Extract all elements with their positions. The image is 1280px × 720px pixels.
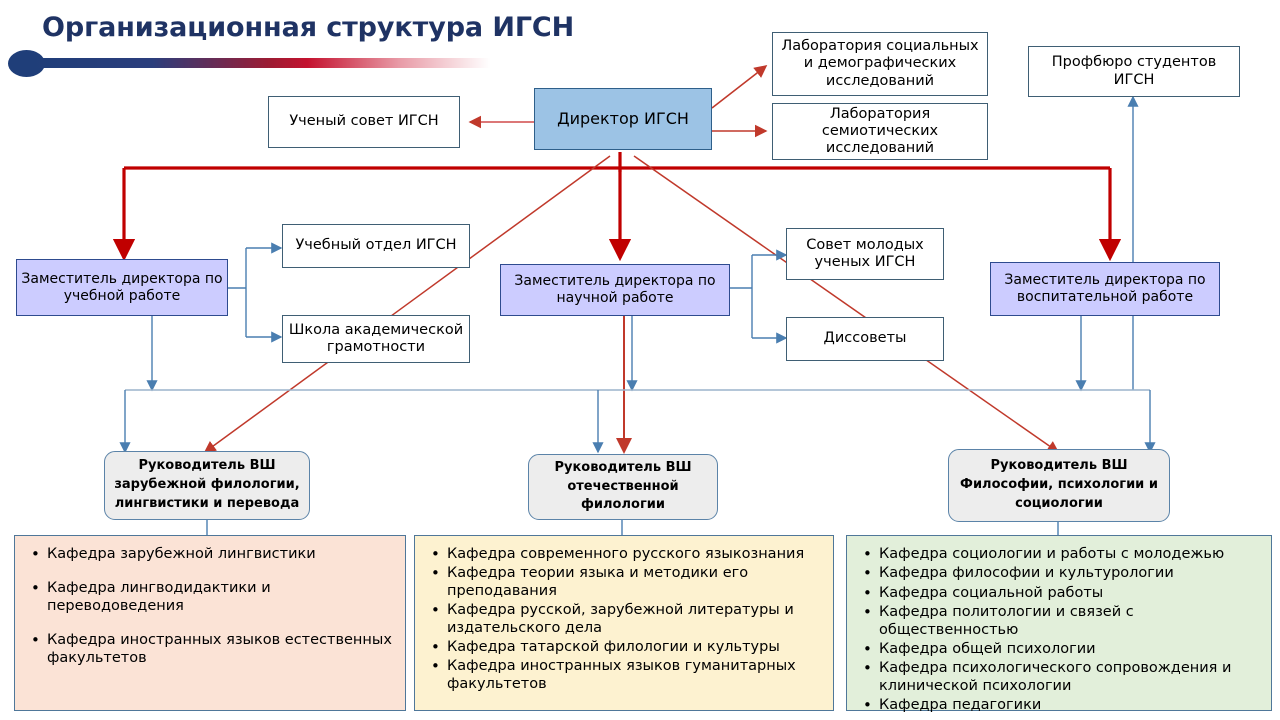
- node-deputy-upbringing-label: Заместитель директора по воспитательной …: [991, 272, 1219, 305]
- panel-domestic-philology-departments: Кафедра современного русского языкознани…: [414, 535, 834, 711]
- node-head-philosophy-psychology[interactable]: Руководитель ВШ Философии, психологии и …: [948, 449, 1170, 522]
- node-education-department[interactable]: Учебный отдел ИГСН: [282, 224, 470, 268]
- list-item: Кафедра лингводидактики и переводоведени…: [27, 580, 393, 615]
- node-director-label: Директор ИГСН: [553, 110, 693, 129]
- node-academic-council-label: Ученый совет ИГСН: [285, 113, 442, 130]
- node-deputy-academic[interactable]: Заместитель директора по учебной работе: [16, 259, 228, 316]
- list-item: Кафедра социологии и работы с молодежью: [859, 546, 1259, 563]
- foreign-department-list: Кафедра зарубежной лингвистики Кафедра л…: [27, 546, 393, 667]
- node-academic-council[interactable]: Ученый совет ИГСН: [268, 96, 460, 148]
- wire-academic-children: [228, 248, 281, 337]
- list-item: Кафедра русской, зарубежной литературы и…: [427, 602, 821, 637]
- node-head-foreign-philology[interactable]: Руководитель ВШ зарубежной филологии, ли…: [104, 451, 310, 520]
- wire-head-to-panels: [207, 520, 1058, 535]
- node-young-scientists-council-label: Совет молодых ученых ИГСН: [787, 237, 943, 271]
- list-item: Кафедра теории языка и методики его преп…: [427, 565, 821, 600]
- node-head-domestic-philology[interactable]: Руководитель ВШ отечественной филологии: [528, 454, 718, 520]
- node-profburo[interactable]: Профбюро студентов ИГСН: [1028, 46, 1240, 97]
- node-lab-social-demographic-label: Лаборатория социальных и демографических…: [773, 38, 987, 89]
- list-item: Кафедра зарубежной лингвистики: [27, 546, 393, 563]
- wire-blue-bus: [125, 390, 1150, 452]
- node-literacy-school-label: Школа академической грамотности: [283, 322, 469, 356]
- node-director[interactable]: Директор ИГСН: [534, 88, 712, 150]
- list-item: Кафедра психологического сопровождения и…: [859, 660, 1259, 695]
- panel-philosophy-departments: Кафедра социологии и работы с молодежью …: [846, 535, 1272, 711]
- title-gradient-bar: [34, 58, 490, 68]
- node-lab-semiotic[interactable]: Лаборатория семиотических исследований: [772, 103, 988, 160]
- list-item: Кафедра философии и культурологии: [859, 565, 1259, 582]
- node-education-department-label: Учебный отдел ИГСН: [291, 237, 460, 254]
- org-chart-canvas: Организационная структура ИГСН Ученый со…: [0, 0, 1280, 720]
- list-item: Кафедра социальной работы: [859, 585, 1259, 602]
- node-head-foreign-philology-label: Руководитель ВШ зарубежной филологии, ли…: [105, 457, 309, 514]
- wire-science-children: [730, 255, 786, 338]
- node-head-domestic-philology-label: Руководитель ВШ отечественной филологии: [529, 459, 717, 516]
- list-item: Кафедра политологии и связей с обществен…: [859, 604, 1259, 639]
- node-deputy-academic-label: Заместитель директора по учебной работе: [17, 271, 227, 304]
- list-item: Кафедра иностранных языков естественных …: [27, 632, 393, 667]
- node-young-scientists-council[interactable]: Совет молодых ученых ИГСН: [786, 228, 944, 280]
- node-deputy-upbringing[interactable]: Заместитель директора по воспитательной …: [990, 262, 1220, 316]
- node-literacy-school[interactable]: Школа академической грамотности: [282, 315, 470, 363]
- list-item: Кафедра иностранных языков гуманитарных …: [427, 658, 821, 693]
- list-item: Кафедра татарской филологии и культуры: [427, 639, 821, 656]
- page-title: Организационная структура ИГСН: [42, 12, 574, 43]
- node-dissertation-councils[interactable]: Диссоветы: [786, 317, 944, 361]
- panel-foreign-philology-departments: Кафедра зарубежной лингвистики Кафедра л…: [14, 535, 406, 711]
- node-dissertation-councils-label: Диссоветы: [820, 330, 911, 347]
- wire-red-trunk: [124, 152, 1110, 258]
- list-item: Кафедра современного русского языкознани…: [427, 546, 821, 563]
- node-deputy-science[interactable]: Заместитель директора по научной работе: [500, 264, 730, 316]
- node-lab-social-demographic[interactable]: Лаборатория социальных и демографических…: [772, 32, 988, 96]
- domestic-department-list: Кафедра современного русского языкознани…: [427, 546, 821, 693]
- node-head-philosophy-psychology-label: Руководитель ВШ Философии, психологии и …: [949, 457, 1169, 514]
- node-lab-semiotic-label: Лаборатория семиотических исследований: [773, 106, 987, 157]
- wire-director-to-lab-social: [712, 66, 766, 108]
- list-item: Кафедра общей психологии: [859, 641, 1259, 658]
- node-deputy-science-label: Заместитель директора по научной работе: [501, 273, 729, 306]
- list-item: Кафедра педагогики: [859, 697, 1259, 714]
- philosophy-department-list: Кафедра социологии и работы с молодежью …: [859, 546, 1259, 715]
- node-profburo-label: Профбюро студентов ИГСН: [1029, 54, 1239, 88]
